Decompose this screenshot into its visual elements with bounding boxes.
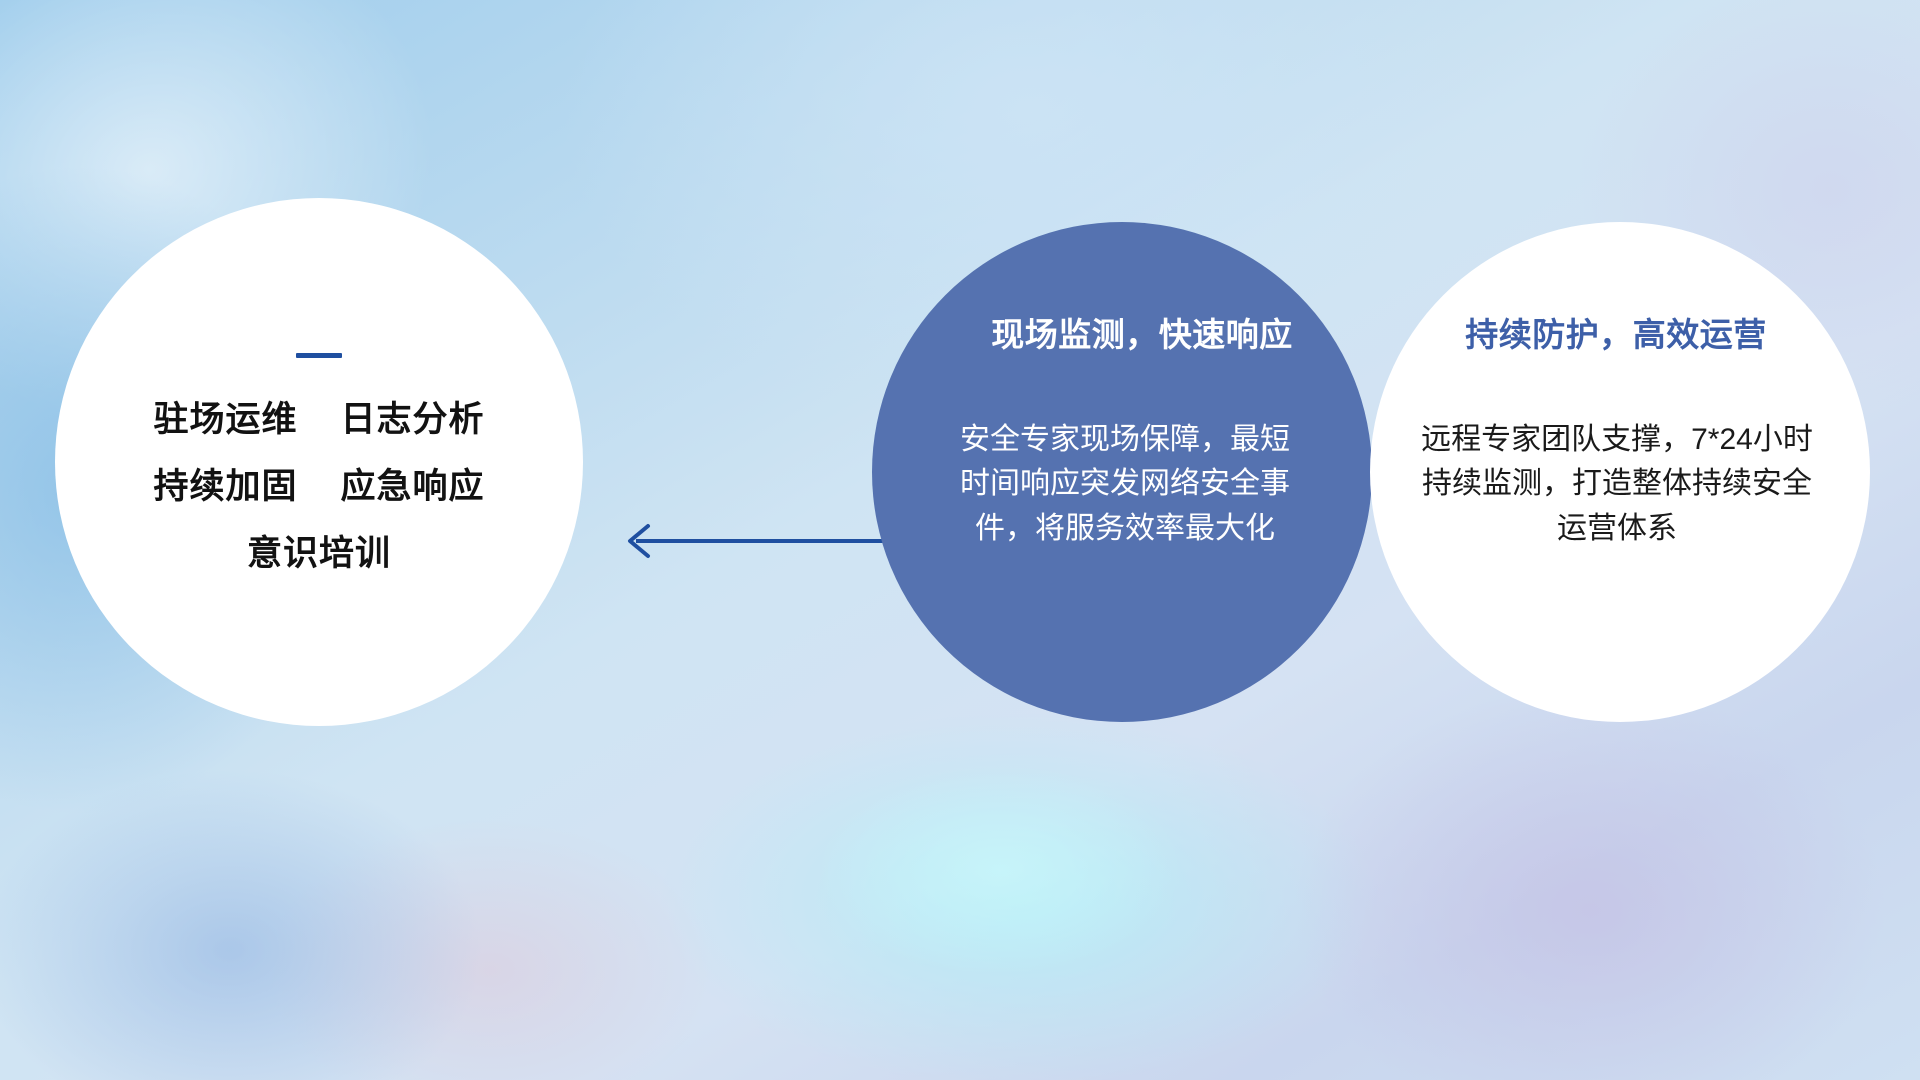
continuous-protection-circle[interactable]: 持续防护，高效运营 远程专家团队支撑，7*24小时持续监测，打造整体持续安全运营… — [1370, 222, 1870, 722]
dash-rule-icon — [296, 353, 342, 358]
slide-canvas: 驻场运维 日志分析 持续加固 应急响应 意识培训 现场监测，快速响应 安全专家现… — [0, 0, 1920, 1080]
background-bloom-cyan — [520, 640, 1520, 1080]
left-arrow-icon — [608, 520, 900, 562]
onsite-monitoring-title: 现场监测，快速响应 — [991, 308, 1293, 356]
continuous-protection-title: 持续防护，高效运营 — [1465, 308, 1767, 356]
background-bloom-pink — [180, 760, 800, 1080]
background-bloom-cyan-core — [740, 720, 1260, 1020]
service-capabilities-circle[interactable]: 驻场运维 日志分析 持续加固 应急响应 意识培训 — [55, 198, 583, 726]
left-arrow — [608, 520, 900, 562]
onsite-monitoring-body: 安全专家现场保障，最短时间响应突发网络安全事件，将服务效率最大化 — [960, 418, 1290, 551]
capability-line-1: 驻场运维 日志分析 — [154, 402, 485, 437]
background-bloom-bottom-left — [0, 700, 580, 1080]
capability-line-2: 持续加固 应急响应 — [154, 469, 485, 504]
capability-line-3: 意识培训 — [247, 536, 391, 571]
onsite-monitoring-circle[interactable]: 现场监测，快速响应 安全专家现场保障，最短时间响应突发网络安全事件，将服务效率最… — [872, 222, 1372, 722]
continuous-protection-body: 远程专家团队支撑，7*24小时持续监测，打造整体持续安全运营体系 — [1412, 418, 1822, 551]
